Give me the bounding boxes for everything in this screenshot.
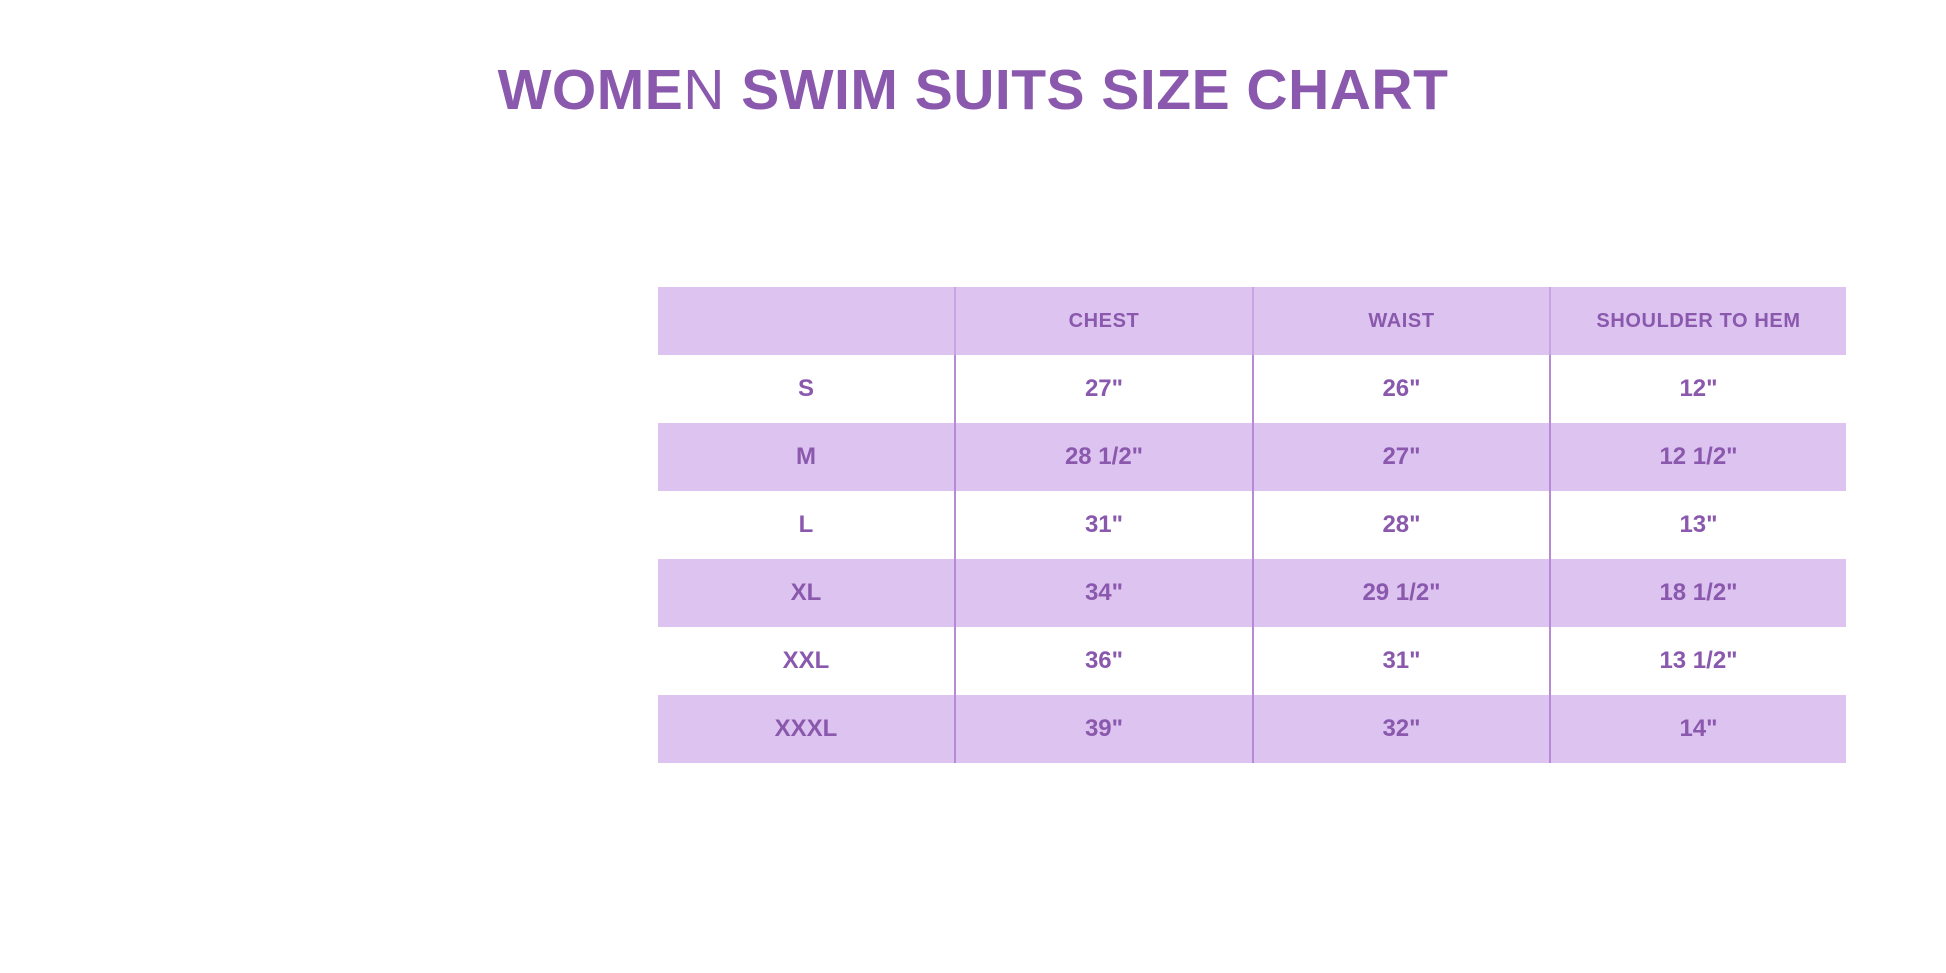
column-header-waist: WAIST (1253, 287, 1550, 355)
cell-size: S (658, 355, 955, 423)
cell-waist: 26" (1253, 355, 1550, 423)
cell-waist: 29 1/2" (1253, 559, 1550, 627)
cell-size: XL (658, 559, 955, 627)
cell-shoulder-to-hem: 12 1/2" (1550, 423, 1846, 491)
page-title: WOMEN SWIM SUITS SIZE CHART (0, 62, 1946, 119)
cell-size: L (658, 491, 955, 559)
size-chart-table: CHEST WAIST SHOULDER TO HEM S27"26"12"M2… (658, 287, 1846, 763)
cell-waist: 32" (1253, 695, 1550, 763)
table-row: L31"28"13" (658, 491, 1846, 559)
table-row: XXXL39"32"14" (658, 695, 1846, 763)
table-body: S27"26"12"M28 1/2"27"12 1/2"L31"28"13"XL… (658, 355, 1846, 763)
table-row: XXL36"31"13 1/2" (658, 627, 1846, 695)
page-title-part-two: SWIM SUITS SIZE CHART (725, 58, 1449, 122)
cell-size: M (658, 423, 955, 491)
table-row: M28 1/2"27"12 1/2" (658, 423, 1846, 491)
cell-shoulder-to-hem: 14" (1550, 695, 1846, 763)
table-header: CHEST WAIST SHOULDER TO HEM (658, 287, 1846, 355)
column-header-shoulder-to-hem: SHOULDER TO HEM (1550, 287, 1846, 355)
cell-shoulder-to-hem: 12" (1550, 355, 1846, 423)
cell-size: XXL (658, 627, 955, 695)
cell-chest: 34" (955, 559, 1253, 627)
cell-shoulder-to-hem: 13" (1550, 491, 1846, 559)
cell-chest: 31" (955, 491, 1253, 559)
cell-waist: 28" (1253, 491, 1550, 559)
cell-chest: 27" (955, 355, 1253, 423)
cell-chest: 36" (955, 627, 1253, 695)
table-row: XL34"29 1/2"18 1/2" (658, 559, 1846, 627)
table-header-row: CHEST WAIST SHOULDER TO HEM (658, 287, 1846, 355)
cell-shoulder-to-hem: 18 1/2" (1550, 559, 1846, 627)
cell-chest: 28 1/2" (955, 423, 1253, 491)
cell-waist: 31" (1253, 627, 1550, 695)
table-row: S27"26"12" (658, 355, 1846, 423)
cell-shoulder-to-hem: 13 1/2" (1550, 627, 1846, 695)
cell-waist: 27" (1253, 423, 1550, 491)
cell-size: XXXL (658, 695, 955, 763)
cell-chest: 39" (955, 695, 1253, 763)
page-title-part-light: N (683, 58, 725, 122)
page-title-part-one: WOME (498, 58, 684, 122)
column-header-chest: CHEST (955, 287, 1253, 355)
size-chart-page: WOMEN SWIM SUITS SIZE CHART CHEST WAIST … (0, 0, 1946, 973)
column-header-size (658, 287, 955, 355)
